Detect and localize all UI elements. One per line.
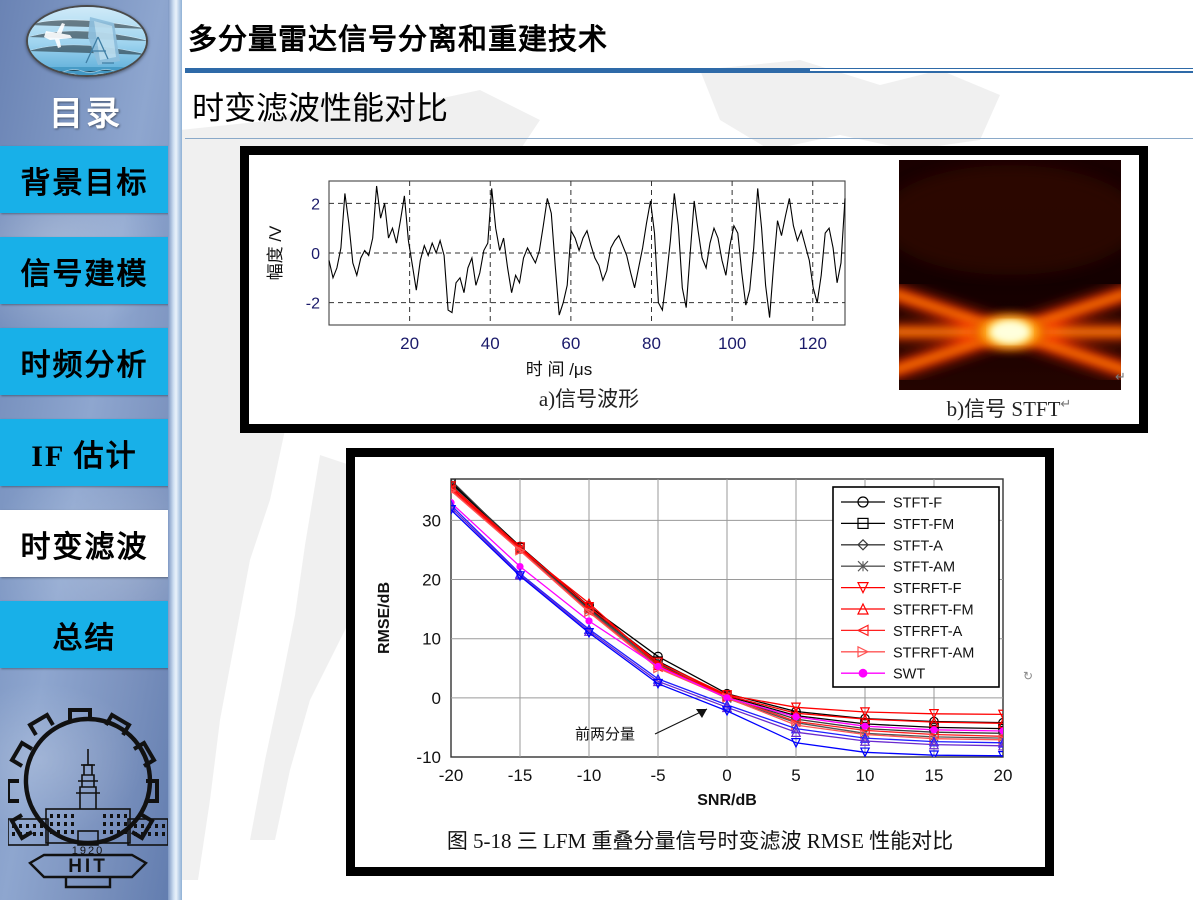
svg-text:100: 100 [718, 334, 746, 353]
svg-text:-10: -10 [416, 748, 441, 767]
svg-text:-15: -15 [508, 766, 533, 785]
return-mark-caption: ↵ [1060, 396, 1071, 411]
sidebar: 目录 背景目标 信号建模 时频分析 IF 估计 时变滤波 总结 [0, 0, 180, 900]
signal-stft-heatmap [899, 160, 1121, 390]
svg-text:STFT-A: STFT-A [893, 538, 943, 554]
svg-text:STFRFT-FM: STFRFT-FM [893, 603, 974, 619]
svg-text:15: 15 [925, 766, 944, 785]
header-divider [185, 68, 1193, 73]
svg-text:-20: -20 [439, 766, 464, 785]
rmse-vs-snr-chart: -20-15-10-505101520-100102030前两分量SNR/dBR… [355, 457, 1045, 825]
figure-panel-top: -20220406080100120时 间 /μs幅度 /V a)信号波形 [240, 146, 1148, 433]
sidebar-item-time-frequency-analysis[interactable]: 时频分析 [0, 328, 169, 395]
svg-text:120: 120 [799, 334, 827, 353]
slide-root: 目录 背景目标 信号建模 时频分析 IF 估计 时变滤波 总结 [0, 0, 1200, 900]
svg-text:0: 0 [722, 766, 731, 785]
subtitle-divider [185, 138, 1193, 139]
svg-text:STFRFT-A: STFRFT-A [893, 624, 963, 640]
svg-text:20: 20 [400, 334, 419, 353]
sidebar-item-background[interactable]: 背景目标 [0, 146, 169, 213]
svg-text:STFT-FM: STFT-FM [893, 517, 954, 533]
svg-text:20: 20 [994, 766, 1013, 785]
stray-rotate-mark: ↻ [1023, 669, 1033, 684]
figure-caption-b: b)信号 STFT↵ [869, 393, 1149, 423]
svg-text:STFRFT-F: STFRFT-F [893, 581, 962, 597]
sidebar-nav: 背景目标 信号建模 时频分析 IF 估计 时变滤波 总结 [0, 146, 172, 692]
svg-text:2: 2 [311, 196, 320, 213]
svg-text:前两分量: 前两分量 [575, 726, 635, 743]
figure-panel-bottom: -20-15-10-505101520-100102030前两分量SNR/dBR… [346, 448, 1054, 876]
svg-text:0: 0 [432, 689, 441, 708]
svg-text:-2: -2 [306, 296, 320, 313]
figure-caption-b-text: b)信号 STFT [947, 397, 1061, 421]
svg-text:SWT: SWT [893, 667, 925, 683]
svg-text:SNR/dB: SNR/dB [697, 792, 757, 809]
sidebar-item-time-varying-filtering[interactable]: 时变滤波 [0, 510, 169, 577]
svg-text:60: 60 [561, 334, 580, 353]
figure-caption-a: a)信号波形 [449, 383, 729, 413]
sidebar-item-summary[interactable]: 总结 [0, 601, 169, 668]
svg-text:STFRFT-AM: STFRFT-AM [893, 645, 974, 661]
radar-dish-icon [26, 5, 148, 77]
svg-text:20: 20 [422, 571, 441, 590]
svg-text:-10: -10 [577, 766, 602, 785]
svg-text:RMSE/dB: RMSE/dB [376, 582, 393, 654]
svg-text:40: 40 [481, 334, 500, 353]
svg-text:10: 10 [422, 630, 441, 649]
hit-logo-acronym: HIT [68, 856, 108, 877]
return-mark-stft: ↵ [1115, 369, 1126, 385]
sidebar-item-if-estimation[interactable]: IF 估计 [0, 419, 169, 486]
hit-institution-logo: 1920 HIT [8, 705, 168, 890]
svg-text:时 间 /μs: 时 间 /μs [526, 360, 592, 379]
page-title: 多分量雷达信号分离和重建技术 [188, 12, 1188, 62]
toc-title: 目录 [0, 82, 172, 138]
svg-text:30: 30 [422, 511, 441, 530]
svg-text:-5: -5 [650, 766, 665, 785]
svg-text:STFT-F: STFT-F [893, 496, 942, 512]
svg-text:幅度 /V: 幅度 /V [266, 225, 285, 280]
sidebar-edge-highlight [168, 0, 182, 900]
svg-text:0: 0 [311, 246, 320, 263]
figure-caption-bottom: 图 5-18 三 LFM 重叠分量信号时变滤波 RMSE 性能对比 [355, 825, 1045, 855]
page-subtitle: 时变滤波性能对比 [192, 82, 1192, 130]
svg-text:5: 5 [791, 766, 800, 785]
sidebar-item-signal-modeling[interactable]: 信号建模 [0, 237, 169, 304]
svg-text:STFT-AM: STFT-AM [893, 560, 955, 576]
svg-text:80: 80 [642, 334, 661, 353]
signal-waveform-chart: -20220406080100120时 间 /μs幅度 /V [259, 163, 859, 383]
svg-text:10: 10 [856, 766, 875, 785]
